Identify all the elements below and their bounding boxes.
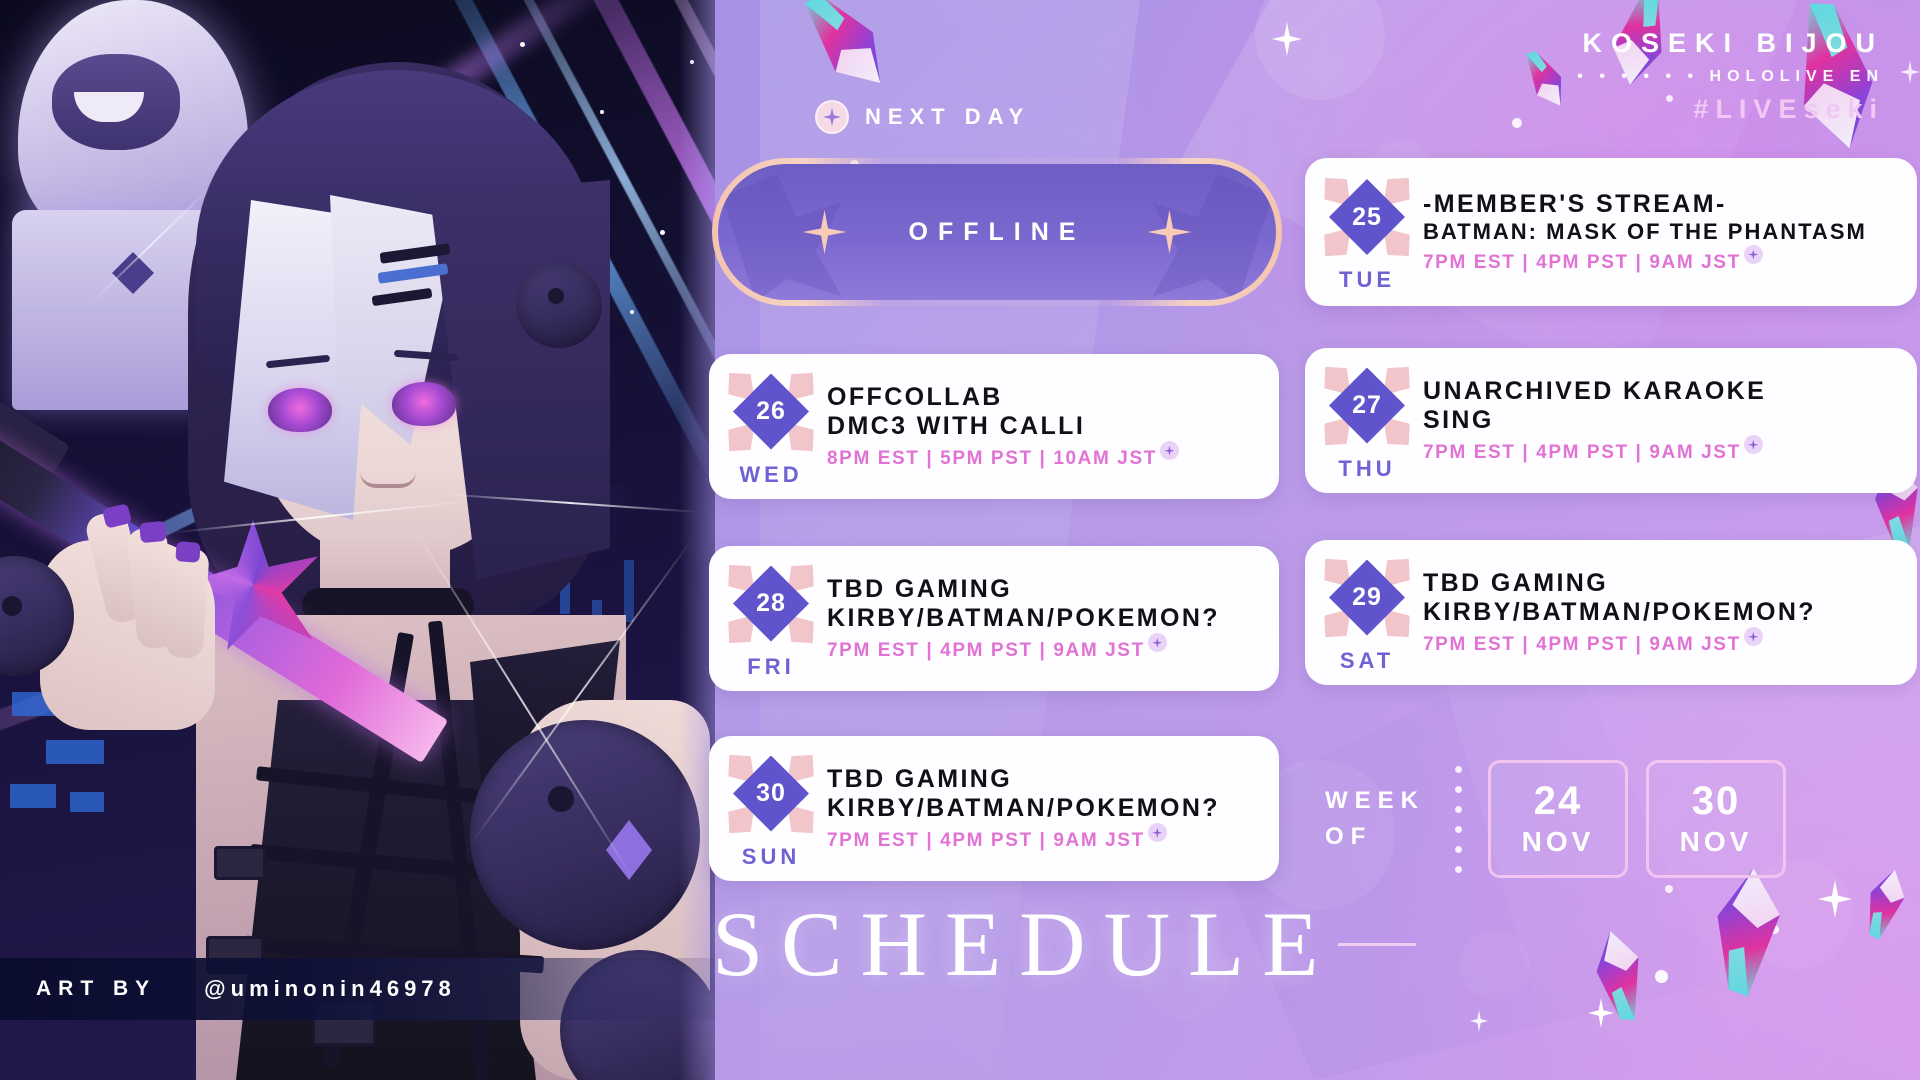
date-badge: 28 FRI: [709, 558, 827, 680]
sparkle-icon: [1148, 823, 1167, 842]
card-time: 7PM EST | 4PM PST | 9AM JST: [827, 640, 1257, 662]
week-of-label: WEEK OF: [1325, 783, 1425, 855]
weekday-label: THU: [1338, 456, 1395, 482]
offline-label: OFFLINE: [909, 218, 1086, 247]
card-title-line1: TBD GAMING: [827, 765, 1257, 794]
card-title-line1: TBD GAMING: [827, 575, 1257, 604]
card-title-line2: KIRBY/BATMAN/POKEMON?: [1423, 598, 1895, 627]
schedule-content: KOSEKI BIJOU • • • • • • HOLOLIVE EN #LI…: [715, 0, 1920, 1080]
card-time: 7PM EST | 4PM PST | 9AM JST: [1423, 634, 1895, 656]
card-time-text: 7PM EST | 4PM PST | 9AM JST: [827, 830, 1145, 852]
sparkle-icon: [1148, 633, 1167, 652]
art-credit-handle: @uminonin46978: [204, 976, 456, 1002]
card-title: UNARCHIVED KARAOKE SING: [1423, 377, 1895, 436]
schedule-title-row: SCHEDULE: [712, 898, 1416, 990]
card-title-line1: -MEMBER'S STREAM-: [1423, 190, 1895, 219]
weekday-label: FRI: [747, 654, 794, 680]
date-number: 27: [1352, 391, 1382, 420]
schedule-card[interactable]: 25 TUE -MEMBER'S STREAM- BATMAN: MASK OF…: [1305, 158, 1917, 306]
week-start-day: 24: [1534, 781, 1583, 821]
card-time-text: 7PM EST | 4PM PST | 9AM JST: [827, 640, 1145, 662]
week-of-line2: OF: [1325, 819, 1425, 855]
week-start-month: NOV: [1522, 826, 1595, 858]
card-time: 7PM EST | 4PM PST | 9AM JST: [1423, 252, 1895, 274]
coin-decoration: [470, 720, 700, 950]
schedule-card[interactable]: 30 SUN TBD GAMING KIRBY/BATMAN/POKEMON? …: [709, 736, 1279, 881]
date-number: 30: [756, 779, 786, 808]
dotted-divider: [1455, 766, 1462, 873]
weekday-label: TUE: [1339, 267, 1395, 293]
card-title-line2: SING: [1423, 406, 1895, 435]
card-title: TBD GAMING KIRBY/BATMAN/POKEMON?: [1423, 569, 1895, 628]
card-title-line2: BATMAN: MASK OF THE PHANTASM: [1423, 219, 1895, 245]
sparkle-icon: [1744, 245, 1763, 264]
card-time-text: 7PM EST | 4PM PST | 9AM JST: [1423, 442, 1741, 464]
week-start-box: 24 NOV: [1488, 760, 1628, 878]
card-title: OFFCOLLAB DMC3 WITH CALLI: [827, 383, 1257, 442]
character-nail: [139, 521, 167, 544]
card-title: TBD GAMING KIRBY/BATMAN/POKEMON?: [827, 765, 1257, 824]
week-end-day: 30: [1692, 781, 1741, 821]
schedule-card[interactable]: 27 THU UNARCHIVED KARAOKE SING 7PM EST |…: [1305, 348, 1917, 493]
card-title: TBD GAMING KIRBY/BATMAN/POKEMON?: [827, 575, 1257, 634]
date-badge: 25 TUE: [1305, 171, 1423, 293]
card-title: -MEMBER'S STREAM- BATMAN: MASK OF THE PH…: [1423, 190, 1895, 245]
date-number: 25: [1352, 203, 1382, 232]
card-time-text: 7PM EST | 4PM PST | 9AM JST: [1423, 252, 1741, 274]
week-of-section: WEEK OF 24 NOV 30 NOV: [1325, 760, 1786, 878]
page-title: SCHEDULE: [712, 898, 1336, 990]
date-badge: 27 THU: [1305, 360, 1423, 482]
card-title-line1: TBD GAMING: [1423, 569, 1895, 598]
week-of-line1: WEEK: [1325, 783, 1425, 819]
card-time: 8PM EST | 5PM PST | 10AM JST: [827, 448, 1257, 470]
sparkle-icon: [1744, 627, 1763, 646]
coin-eye: [2, 596, 22, 616]
character-artwork: [0, 0, 715, 1080]
date-badge: 26 WED: [709, 366, 827, 488]
date-number: 29: [1352, 583, 1382, 612]
weekday-label: WED: [739, 462, 802, 488]
weekday-label: SAT: [1340, 648, 1394, 674]
schedule-graphic: ART BY @uminonin46978 KOSEKI BIJOU • • •…: [0, 0, 1920, 1080]
week-end-box: 30 NOV: [1646, 760, 1786, 878]
title-dash: [1338, 943, 1416, 946]
character-eye-right: [392, 382, 456, 426]
week-end-month: NOV: [1680, 826, 1753, 858]
card-title-line2: DMC3 WITH CALLI: [827, 412, 1257, 441]
art-credit-bar: ART BY @uminonin46978: [0, 958, 715, 1020]
art-credit-label: ART BY: [36, 977, 156, 1001]
coin-eye: [548, 786, 574, 812]
card-title-line2: KIRBY/BATMAN/POKEMON?: [827, 604, 1257, 633]
schedule-card[interactable]: 29 SAT TBD GAMING KIRBY/BATMAN/POKEMON? …: [1305, 540, 1917, 685]
artwork-edge-fade: [679, 0, 715, 1080]
card-title-line2: KIRBY/BATMAN/POKEMON?: [827, 794, 1257, 823]
schedule-card[interactable]: 28 FRI TBD GAMING KIRBY/BATMAN/POKEMON? …: [709, 546, 1279, 691]
character-eye-left: [268, 388, 332, 432]
card-title-line1: UNARCHIVED KARAOKE: [1423, 377, 1895, 406]
harness-buckle: [214, 846, 266, 880]
coin-eye: [548, 288, 564, 304]
card-time-text: 7PM EST | 4PM PST | 9AM JST: [1423, 634, 1741, 656]
coin-decoration: [516, 262, 602, 348]
date-number: 26: [756, 397, 786, 426]
character-mouth: [360, 472, 416, 488]
character-nail: [175, 541, 200, 563]
sparkle-icon: [1744, 435, 1763, 454]
schedule-card[interactable]: 26 WED OFFCOLLAB DMC3 WITH CALLI 8PM EST…: [709, 354, 1279, 499]
card-time-text: 8PM EST | 5PM PST | 10AM JST: [827, 448, 1157, 470]
card-time: 7PM EST | 4PM PST | 9AM JST: [1423, 442, 1895, 464]
card-time: 7PM EST | 4PM PST | 9AM JST: [827, 830, 1257, 852]
sparkle-icon: [1160, 441, 1179, 460]
date-badge: 29 SAT: [1305, 552, 1423, 674]
date-badge: 30 SUN: [709, 748, 827, 870]
card-title-line1: OFFCOLLAB: [827, 383, 1257, 412]
character-finger: [164, 547, 210, 659]
weekday-label: SUN: [742, 844, 800, 870]
date-number: 28: [756, 589, 786, 618]
